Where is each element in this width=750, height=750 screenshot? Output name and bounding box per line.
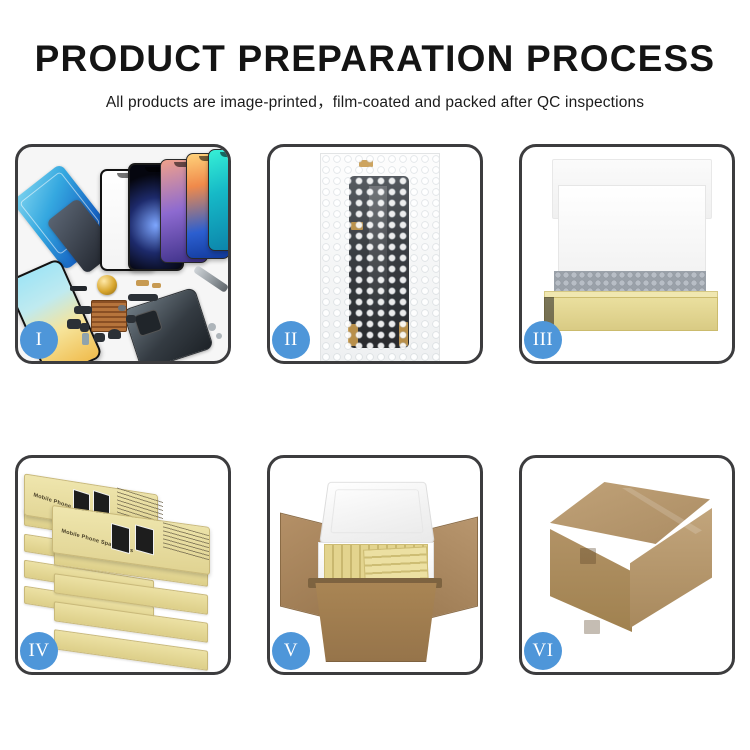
step-numeral: IV bbox=[28, 640, 49, 662]
process-step-panel-6[interactable]: VI bbox=[519, 455, 735, 675]
process-step-panel-5[interactable]: V bbox=[267, 455, 483, 675]
bubble-texture bbox=[321, 154, 439, 361]
box-spec-text-block bbox=[163, 522, 209, 561]
foam-cooler-lid bbox=[319, 482, 435, 543]
step-badge-6: VI bbox=[524, 632, 562, 670]
component-chip bbox=[118, 305, 126, 311]
step-numeral: VI bbox=[532, 640, 553, 662]
carton-tab bbox=[584, 620, 600, 634]
box-phone-image bbox=[135, 524, 154, 555]
component-chip bbox=[70, 286, 87, 291]
box-phone-image bbox=[111, 523, 130, 554]
step-badge-4: IV bbox=[20, 632, 58, 670]
foam-sheet bbox=[558, 185, 706, 277]
page-title: PRODUCT PREPARATION PROCESS bbox=[0, 40, 750, 79]
component-chip bbox=[152, 283, 161, 288]
component-chip bbox=[136, 280, 149, 286]
process-step-panel-3[interactable]: III bbox=[519, 144, 735, 364]
component-flex-cable bbox=[74, 306, 92, 314]
carton-tab bbox=[580, 548, 596, 564]
kraft-box-body bbox=[544, 297, 718, 331]
process-step-panel-4[interactable]: Mobile Phone Spare Parts Mobile Phone Sp… bbox=[15, 455, 231, 675]
component-flex-cable bbox=[80, 323, 89, 332]
step-numeral: I bbox=[36, 329, 43, 351]
step-badge-5: V bbox=[272, 632, 310, 670]
gold-coil-component bbox=[97, 275, 117, 295]
component-screw bbox=[208, 323, 216, 331]
carton-body bbox=[310, 582, 442, 662]
bubble-wrap-bag bbox=[320, 153, 440, 361]
step-badge-1: I bbox=[20, 321, 58, 359]
step-badge-3: III bbox=[524, 321, 562, 359]
step-numeral: III bbox=[533, 329, 553, 351]
page-subtitle: All products are image-printed，film-coat… bbox=[0, 90, 750, 112]
product-preparation-infographic: PRODUCT PREPARATION PROCESS All products… bbox=[0, 0, 750, 750]
process-step-panel-1[interactable]: I bbox=[15, 144, 231, 364]
header: PRODUCT PREPARATION PROCESS All products… bbox=[0, 0, 750, 112]
step-numeral: V bbox=[284, 640, 298, 662]
step-badge-2: II bbox=[272, 321, 310, 359]
process-step-panel-2[interactable]: II bbox=[267, 144, 483, 364]
component-screw bbox=[216, 333, 222, 339]
phone-screen-teal bbox=[208, 149, 228, 251]
component-flex-cable bbox=[126, 315, 136, 323]
step-numeral: II bbox=[284, 329, 298, 351]
component-battery bbox=[82, 333, 89, 345]
component-ribbon-cable bbox=[128, 294, 158, 301]
screwdriver-icon bbox=[193, 265, 228, 293]
component-speaker bbox=[108, 329, 121, 339]
component-flex-cable bbox=[94, 333, 105, 342]
component-flex-cable bbox=[67, 319, 81, 329]
process-step-grid: I II bbox=[15, 144, 735, 677]
